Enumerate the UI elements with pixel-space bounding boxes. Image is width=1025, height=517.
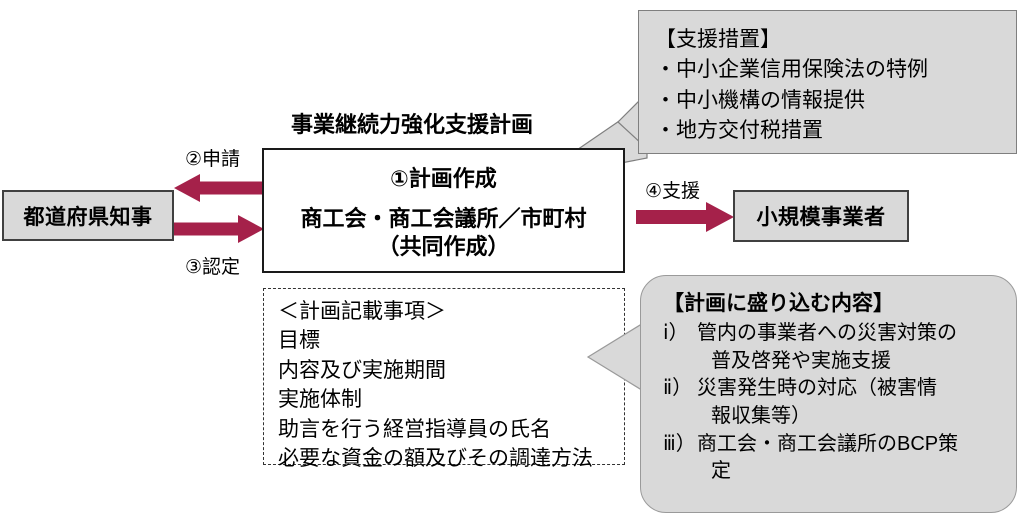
support-measures-item-2: ・中小機構の情報提供 bbox=[655, 86, 1000, 116]
plan-contents-item-3-line2: 定 bbox=[697, 458, 731, 486]
main-plan-box: ①計画作成 商工会・商工会議所／市町村 （共同作成） bbox=[262, 148, 625, 273]
entity-prefectural-governor: 都道府県知事 bbox=[2, 190, 174, 241]
flow-arrow-apply bbox=[174, 173, 264, 203]
plan-items-box: ＜計画記載事項＞ 目標 内容及び実施期間 実施体制 助言を行う経営指導員の氏名 … bbox=[263, 288, 625, 465]
plan-contents-heading: 【計画に盛り込む内容】 bbox=[663, 290, 1002, 317]
plan-contents-item-1: ⅰ） 管内の事業者への災害対策の 普及啓発や実施支援 bbox=[663, 320, 1002, 375]
plan-contents-item-2-line1: 災害発生時の対応（被害情 bbox=[697, 377, 937, 399]
support-measures-item-3: ・地方交付税措置 bbox=[655, 116, 1000, 146]
plan-contents-callout: 【計画に盛り込む内容】 ⅰ） 管内の事業者への災害対策の 普及啓発や実施支援 ⅱ… bbox=[640, 275, 1017, 513]
entity-small-business: 小規模事業者 bbox=[733, 190, 909, 242]
plan-item-1: 目標 bbox=[278, 326, 614, 355]
diagram-canvas: 事業継続力強化支援計画 【支援措置】 ・中小企業信用保険法の特例 ・中小機構の情… bbox=[0, 0, 1025, 517]
flow-arrow-approve bbox=[174, 214, 264, 244]
main-note: （共同作成） bbox=[300, 233, 586, 261]
plan-contents-item-3-line1: 商工会・商工会議所のBCP策 bbox=[697, 433, 958, 455]
diagram-title: 事業継続力強化支援計画 bbox=[291, 107, 533, 139]
plan-contents-marker-1: ⅰ） bbox=[663, 320, 697, 348]
plan-items-heading: ＜計画記載事項＞ bbox=[278, 297, 614, 326]
plan-contents-item-1-line2: 普及啓発や実施支援 bbox=[697, 348, 891, 376]
flow-label-approve: ③認定 bbox=[185, 252, 240, 279]
flow-arrow-support bbox=[636, 201, 734, 233]
plan-contents-item-2-line2: 報収集等） bbox=[697, 403, 811, 431]
main-actors: 商工会・商工会議所／市町村 bbox=[300, 205, 586, 233]
flow-label-apply: ②申請 bbox=[185, 144, 240, 171]
plan-item-4: 助言を行う経営指導員の氏名 bbox=[278, 415, 614, 444]
plan-contents-item-2: ⅱ） 災害発生時の対応（被害情 報収集等） bbox=[663, 375, 1002, 430]
plan-item-2: 内容及び実施期間 bbox=[278, 356, 614, 385]
plan-contents-item-1-line1: 管内の事業者への災害対策の bbox=[697, 322, 957, 344]
plan-item-5: 必要な資金の額及びその調達方法 bbox=[278, 444, 614, 473]
plan-item-3: 実施体制 bbox=[278, 385, 614, 414]
support-measures-item-1: ・中小企業信用保険法の特例 bbox=[655, 55, 1000, 85]
main-step-label: ①計画作成 bbox=[390, 161, 497, 193]
flow-label-support: ④支援 bbox=[645, 176, 700, 203]
support-measures-heading: 【支援措置】 bbox=[655, 25, 1000, 55]
plan-contents-marker-2: ⅱ） bbox=[663, 375, 697, 403]
plan-contents-marker-3: ⅲ） bbox=[663, 431, 697, 459]
support-measures-callout: 【支援措置】 ・中小企業信用保険法の特例 ・中小機構の情報提供 ・地方交付税措置 bbox=[638, 10, 1017, 154]
plan-contents-item-3: ⅲ） 商工会・商工会議所のBCP策 定 bbox=[663, 431, 1002, 486]
